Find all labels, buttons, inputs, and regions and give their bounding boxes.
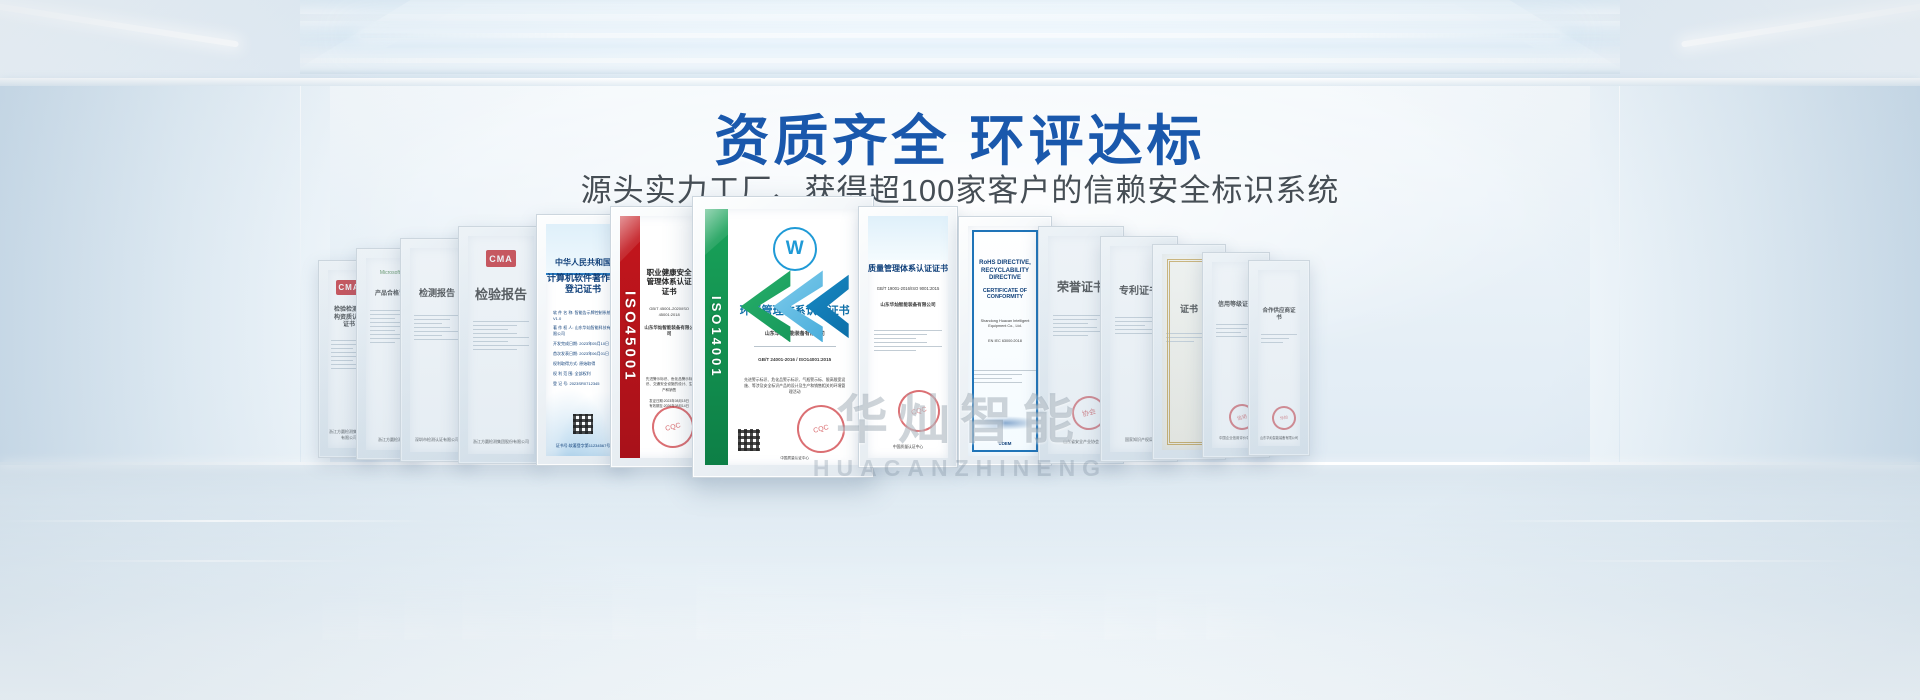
field-value: 2023SR0712345 [569,381,599,386]
chevron-logo-icon [741,270,849,342]
official-seal: CQC [792,400,850,458]
certificate-paper: 质量管理体系认证证书 GB/T 19001-2016/ISO 9001:2015… [868,216,948,458]
certificate-frame-cma-report[interactable]: CMA 检验报告 浙江方圆检测集团股份有限公司 [458,226,544,464]
certificate-title: 合作供应商证书 [1258,308,1300,322]
certificate-paper: 中华人民共和国 计算机软件著作权登记证书 软 件 名 称: 智能告示牌控制系统 … [546,224,620,456]
field-label: 开发完成日期: [553,341,578,346]
field-value: 全部权利 [575,371,591,376]
certificate-paper: ISO14001 W 环境管理体系认证证书 山东华灿智能装备有限公司 GB/T … [705,209,861,465]
certificate-footer: 中国质量认证中心 [728,456,861,461]
band-highlight [705,209,728,255]
field-value: 原始取得 [579,361,595,366]
certificate-paper: ISO45001 职业健康安全管理体系认证证书 GB/T 45001-2020/… [620,216,698,458]
banner-stage: 资质齐全 环评达标 源头实力工厂、获得超100家客户的信赖安全标识系统 CMA … [0,0,1920,700]
certificate-body-lines [1258,334,1300,343]
certificate-frame-iso9001[interactable]: 质量管理体系认证证书 GB/T 19001-2016/ISO 9001:2015… [858,206,958,468]
iso45001-band-text: ISO45001 [622,291,639,383]
iso45001-side-band: ISO45001 [620,216,640,458]
field-label: 首次发表日期: [553,351,578,356]
official-seal: CQC [648,402,698,453]
certificate-scope: 先进警示标识、危化品警示标识、气瓶警示标、限高限宽设施、等涉及安全标识产品的设计… [736,377,853,396]
certificate-frame-supplier[interactable]: 合作供应商证书 华灿 山东华灿智能装备有限公司 [1248,260,1310,456]
iso14001-band-text: ISO14001 [709,296,724,379]
company-logo-icon: W [773,227,817,271]
qr-code [546,414,620,434]
certificate-rack: CMA 检验检测机构资质认定证书 浙江方圆检测集团股份有限公司 Microsof… [0,0,1920,700]
official-seal: 华灿 [1269,403,1298,432]
cert-header-band [868,216,948,260]
band-highlight [620,216,640,262]
certificate-reflection [612,552,708,640]
certificate-standard: GB/T 19001-2016/ISO 9001:2015 [868,286,948,292]
certificate-title: 质量管理体系认证证书 [868,264,948,274]
certificate-title: 职业健康安全管理体系认证证书 [644,268,694,296]
certificate-title-line3: CERTIFICATE OF CONFORMITY [968,288,1042,302]
qr-code [738,429,760,451]
signature-mark [968,416,1042,430]
field-label: 权利取得方式: [553,361,578,366]
certificate-scope: 先进警示标识、危化品警示标识、交通安全设施的设计、生产和销售 [644,377,694,393]
iso14001-side-band: ISO14001 [705,209,728,465]
certificate-reflection [696,544,874,640]
certificate-title: 检测报告 [410,288,464,299]
official-seal: CQC [894,386,945,437]
certificate-title: 检验报告 [468,287,534,303]
certificate-body-lines [468,321,534,350]
certificate-reflection [860,552,960,640]
certificate-footer: 山东华灿智能装备有限公司 [1258,436,1300,440]
field-label: 软 件 名 称: [553,310,573,315]
certificate-paper: CMA 检验报告 浙江方圆检测集团股份有限公司 [468,236,534,454]
field-label: 权 利 范 围: [553,371,573,376]
certificate-body-lines [410,315,464,340]
certificate-issuer: UDEM [968,441,1042,447]
certificate-frame-iso14001-center[interactable]: ISO14001 W 环境管理体系认证证书 山东华灿智能装备有限公司 GB/T … [692,196,874,478]
certificate-company: 山东华灿智能装备有限公司 [868,302,948,308]
cma-badge: CMA [486,250,516,267]
software-cert-fields: 软 件 名 称: 智能告示牌控制系统 V1.0 著 作 权 人: 山东华灿智能科… [546,310,620,387]
certificate-paper: 检测报告 深圳市检测认证有限公司 [410,248,464,452]
certificate-footer: 证书号:软著登字第11234567号 [546,443,620,448]
certificate-standard: GB/T 24001-2016 / ISO14001:2015 [736,357,853,363]
certificate-body-lines [868,330,948,351]
certificate-footer: 中国质量认证中心 [868,445,948,450]
certificate-title-line2: 计算机软件著作权登记证书 [546,273,620,296]
certificate-reflection [1206,580,1276,640]
certificate-standard: GB/T 45001-2020/ISO 45001:2018 [644,306,694,317]
field-value: 2023年06月01日 [579,351,609,356]
certificate-title-line2: RECYCLABILITY DIRECTIVE [968,268,1042,283]
field-label: 著 作 权 人: [553,325,573,330]
certificate-title-line1: RoHS DIRECTIVE, [968,260,1042,268]
field-label: 登 记 号: [553,381,568,386]
certificate-footer: 浙江方圆检测集团股份有限公司 [468,439,534,444]
certificate-paper: RoHS DIRECTIVE, RECYCLABILITY DIRECTIVE … [968,226,1042,456]
certificate-paper: 合作供应商证书 华灿 山东华灿智能装备有限公司 [1258,270,1300,446]
certificate-title-line1: 中华人民共和国 [546,258,620,268]
certificate-footer: 深圳市检测认证有限公司 [410,437,464,442]
certificate-company: 山东华灿智能装备有限公司 [644,325,694,337]
field-value: 2023年05月10日 [579,341,609,346]
